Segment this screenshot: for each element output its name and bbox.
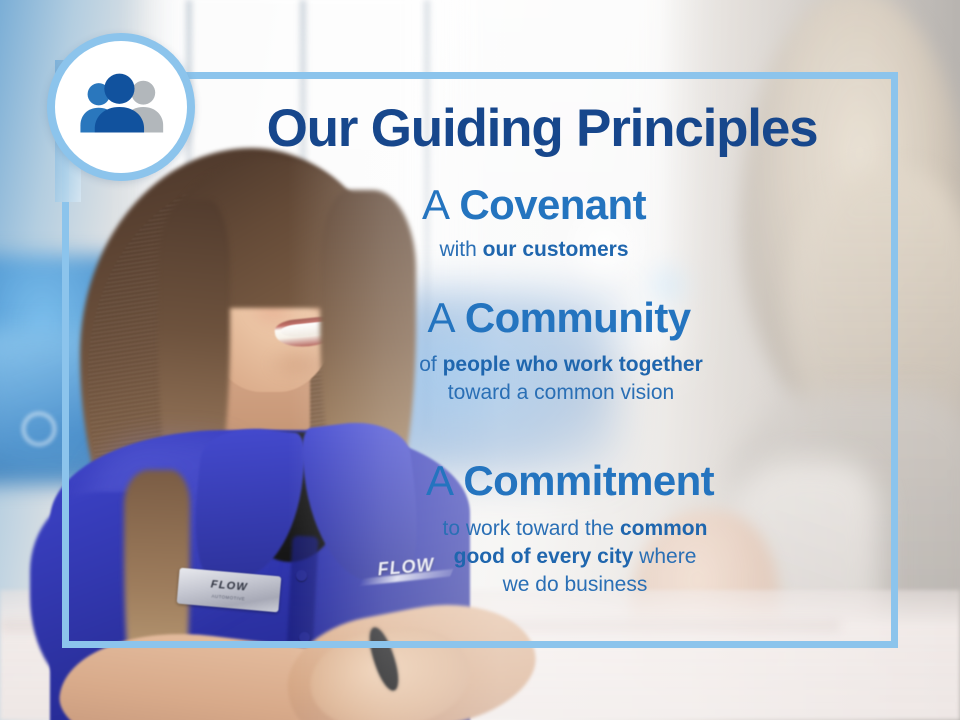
- principle-keyword: Commitment: [463, 457, 714, 504]
- people-group-icon: [73, 72, 169, 142]
- guiding-principles-badge: [47, 33, 195, 181]
- principle-heading: A Covenant: [178, 183, 890, 227]
- principle-heading: A Community: [228, 296, 890, 340]
- principle-subtext: of people who work together toward a com…: [232, 351, 890, 407]
- subtext-segment-bold: good of every city: [454, 545, 634, 568]
- subtext-segment-bold: common: [620, 517, 708, 540]
- subtext-segment-bold: people who work together: [443, 353, 703, 376]
- principle-article: A: [426, 457, 463, 504]
- subtext-segment-bold: our customers: [483, 238, 629, 261]
- subtext-segment: we do business: [503, 573, 648, 596]
- subtext-segment: with: [439, 238, 482, 261]
- subtext-line: good of every city where: [260, 543, 890, 571]
- subtext-segment: to work toward the: [443, 517, 620, 540]
- principle-community: A Community of people who work together …: [200, 296, 890, 407]
- principle-keyword: Covenant: [459, 181, 646, 228]
- principle-subtext: to work toward the common good of every …: [260, 515, 890, 599]
- principle-subtext: with our customers: [178, 236, 890, 264]
- subtext-line: of people who work together: [232, 351, 890, 379]
- subtext-segment: toward a common vision: [448, 381, 674, 404]
- principle-article: A: [428, 294, 465, 341]
- subtext-line: toward a common vision: [232, 379, 890, 407]
- principle-covenant: A Covenant with our customers: [200, 183, 890, 264]
- principle-article: A: [422, 181, 459, 228]
- subtext-line: to work toward the common: [260, 515, 890, 543]
- subtext-segment: of: [419, 353, 442, 376]
- subtext-segment: where: [633, 545, 696, 568]
- text-content: Our Guiding Principles A Covenant with o…: [200, 78, 890, 638]
- principle-heading: A Commitment: [250, 459, 890, 503]
- subtext-line: with our customers: [178, 236, 890, 264]
- subtext-line: we do business: [260, 571, 890, 599]
- principle-keyword: Community: [465, 294, 691, 341]
- principle-commitment: A Commitment to work toward the common g…: [200, 459, 890, 599]
- page-title: Our Guiding Principles: [222, 102, 862, 155]
- banner-graphic: FLOW AUTOMOTIVE FLOW Our Guiding Prin: [0, 0, 960, 720]
